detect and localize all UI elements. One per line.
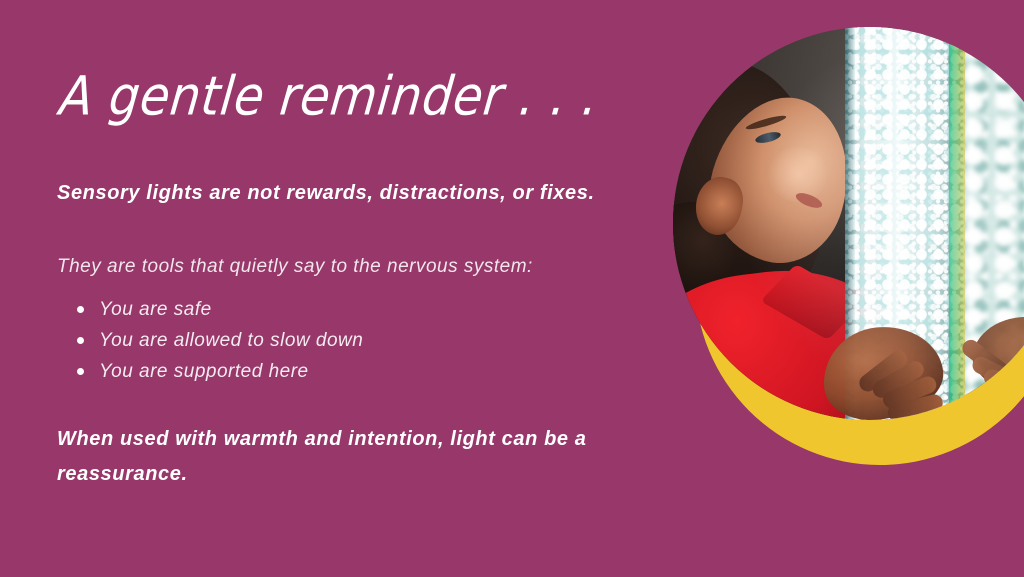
text-column: A gentle reminder . . . Sensory lights a…	[57, 0, 657, 577]
yellow-accent-circle	[695, 95, 1024, 465]
photo-finger	[870, 358, 927, 401]
photo-bubble-wall-background	[959, 27, 1024, 420]
photo-tube-left-edge	[845, 27, 855, 420]
photo-bubble-tube	[845, 27, 963, 420]
list-item-label: You are allowed to slow down	[99, 330, 363, 351]
sub-heading: They are tools that quietly say to the n…	[57, 256, 657, 278]
photo-finger	[982, 367, 1024, 401]
photo-child-face	[693, 82, 868, 278]
slide-title: A gentle reminder . . .	[57, 65, 602, 128]
photo-shadow	[793, 177, 943, 367]
photo-child-hair	[673, 51, 840, 322]
photo-light-glow	[673, 27, 1024, 420]
photo-child-cheek-highlight	[768, 147, 828, 202]
photo-child-lips	[794, 190, 824, 211]
photo-child-ear	[690, 173, 747, 239]
slide-canvas: A gentle reminder . . . Sensory lights a…	[0, 0, 1024, 577]
sensory-room-photo	[673, 27, 1024, 420]
photo-child-ponytail	[673, 202, 735, 297]
photo-finger	[970, 354, 1024, 395]
photo-finger	[886, 393, 944, 420]
bullet-dot-icon	[77, 337, 84, 344]
photo-finger	[856, 347, 911, 395]
photo-room-backdrop	[673, 27, 1024, 420]
photo-child-hand-right	[967, 308, 1024, 405]
photo-shirt-collar	[760, 264, 863, 340]
lead-statement: Sensory lights are not rewards, distract…	[57, 182, 657, 205]
photo-circle	[673, 27, 1024, 420]
list-item-label: You are supported here	[99, 361, 309, 382]
photo-child-red-polo-shirt	[673, 256, 926, 420]
affirmation-list: You are safe You are allowed to slow dow…	[77, 294, 363, 387]
list-item: You are supported here	[99, 356, 363, 387]
bullet-dot-icon	[77, 306, 84, 313]
list-item: You are safe	[99, 294, 363, 325]
photo-bubbles	[845, 27, 965, 420]
photo-finger	[959, 337, 1014, 384]
photo-finger	[881, 374, 939, 411]
closing-statement: When used with warmth and intention, lig…	[57, 422, 657, 492]
bullet-dot-icon	[77, 368, 84, 375]
list-item-label: You are safe	[99, 299, 212, 320]
list-item: You are allowed to slow down	[99, 325, 363, 356]
photo-child-hand-left	[819, 321, 948, 420]
photo-child-eyebrow	[745, 113, 787, 131]
photo-tube-right-edge	[949, 27, 965, 420]
photo-child-eye	[754, 130, 781, 145]
